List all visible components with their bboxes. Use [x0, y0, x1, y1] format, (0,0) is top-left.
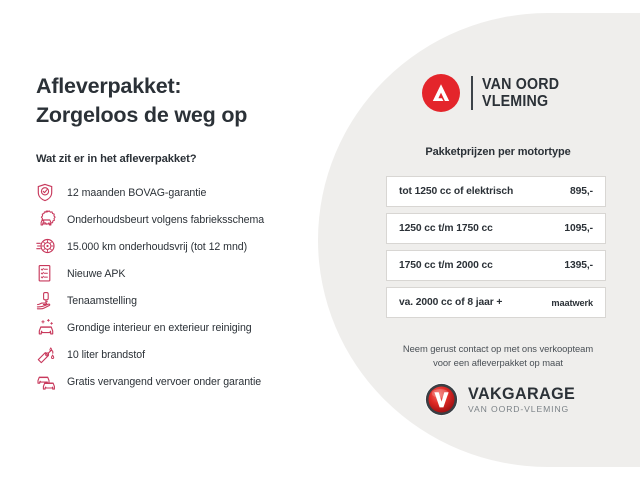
vakgarage-v-badge-icon — [424, 382, 459, 417]
two-cars-icon — [36, 371, 62, 393]
car-service-gear-icon — [36, 209, 62, 231]
logo-divider — [471, 76, 473, 110]
price-table: tot 1250 cc of elektrisch 895,- 1250 cc … — [386, 176, 606, 324]
vakgarage-wordmark: VAKGARAGE VAN OORD-VLEMING — [468, 385, 581, 414]
features-subheading: Wat zit er in het afleverpakket? — [36, 153, 326, 165]
left-content-column: Afleverpakket: Zorgeloos de weg op Wat z… — [36, 72, 326, 411]
vakgarage-subtitle: VAN OORD-VLEMING — [468, 405, 581, 414]
table-row: 1750 cc t/m 2000 cc 1395,- — [386, 250, 606, 281]
car-sparkle-clean-icon — [36, 317, 62, 339]
price-value: 1095,- — [564, 223, 593, 234]
contact-note: Neem gerust contact op met ons verkoopte… — [378, 342, 618, 370]
wheel-speed-icon — [36, 236, 62, 258]
prices-heading: Pakketprijzen per motortype — [378, 146, 618, 158]
table-row: 1250 cc t/m 1750 cc 1095,- — [386, 213, 606, 244]
fuel-nozzle-icon — [36, 344, 62, 366]
list-item: Nieuwe APK — [36, 260, 326, 287]
list-item-label: 10 liter brandstof — [62, 349, 145, 361]
checklist-document-icon — [36, 263, 62, 285]
list-item: Tenaamstelling — [36, 287, 326, 314]
list-item: Onderhoudsbeurt volgens fabrieksschema — [36, 206, 326, 233]
list-item-label: 15.000 km onderhoudsvrij (tot 12 mnd) — [62, 241, 247, 253]
feature-list: 12 maanden BOVAG-garantie Onderhoudsbeur… — [36, 179, 326, 395]
table-row: va. 2000 cc of 8 jaar + maatwerk — [386, 287, 606, 318]
list-item-label: Onderhoudsbeurt volgens fabrieksschema — [62, 214, 264, 226]
price-label: va. 2000 cc of 8 jaar + — [399, 297, 551, 308]
price-value: 1395,- — [564, 260, 593, 271]
shield-check-icon — [36, 182, 62, 204]
price-label: tot 1250 cc of elektrisch — [399, 186, 570, 197]
hand-key-icon — [36, 290, 62, 312]
vakgarage-name: VAKGARAGE — [468, 385, 575, 402]
list-item-label: Tenaamstelling — [62, 295, 137, 307]
list-item: 15.000 km onderhoudsvrij (tot 12 mnd) — [36, 233, 326, 260]
list-item-label: 12 maanden BOVAG-garantie — [62, 187, 206, 199]
list-item-label: Grondige interieur en exterieur reinigin… — [62, 322, 252, 334]
right-content-column: VAN OORD VLEMING Pakketprijzen per motor… — [378, 0, 618, 480]
page-title: Afleverpakket: Zorgeloos de weg op — [36, 72, 326, 129]
list-item: 10 liter brandstof — [36, 341, 326, 368]
list-item: 12 maanden BOVAG-garantie — [36, 179, 326, 206]
poster-canvas: Afleverpakket: Zorgeloos de weg op Wat z… — [0, 0, 640, 480]
price-value: maatwerk — [551, 298, 593, 308]
list-item: Gratis vervangend vervoer onder garantie — [36, 368, 326, 395]
price-value: 895,- — [570, 186, 593, 197]
list-item-label: Nieuwe APK — [62, 268, 125, 280]
brand-name: VAN OORD VLEMING — [482, 76, 559, 111]
list-item: Grondige interieur en exterieur reinigin… — [36, 314, 326, 341]
van-oord-a-mark-icon — [422, 74, 460, 112]
price-label: 1750 cc t/m 2000 cc — [399, 260, 564, 271]
vakgarage-logo: VAKGARAGE VAN OORD-VLEMING — [424, 382, 581, 417]
price-label: 1250 cc t/m 1750 cc — [399, 223, 564, 234]
list-item-label: Gratis vervangend vervoer onder garantie — [62, 376, 261, 388]
table-row: tot 1250 cc of elektrisch 895,- — [386, 176, 606, 207]
van-oord-vleming-logo: VAN OORD VLEMING — [422, 74, 566, 112]
